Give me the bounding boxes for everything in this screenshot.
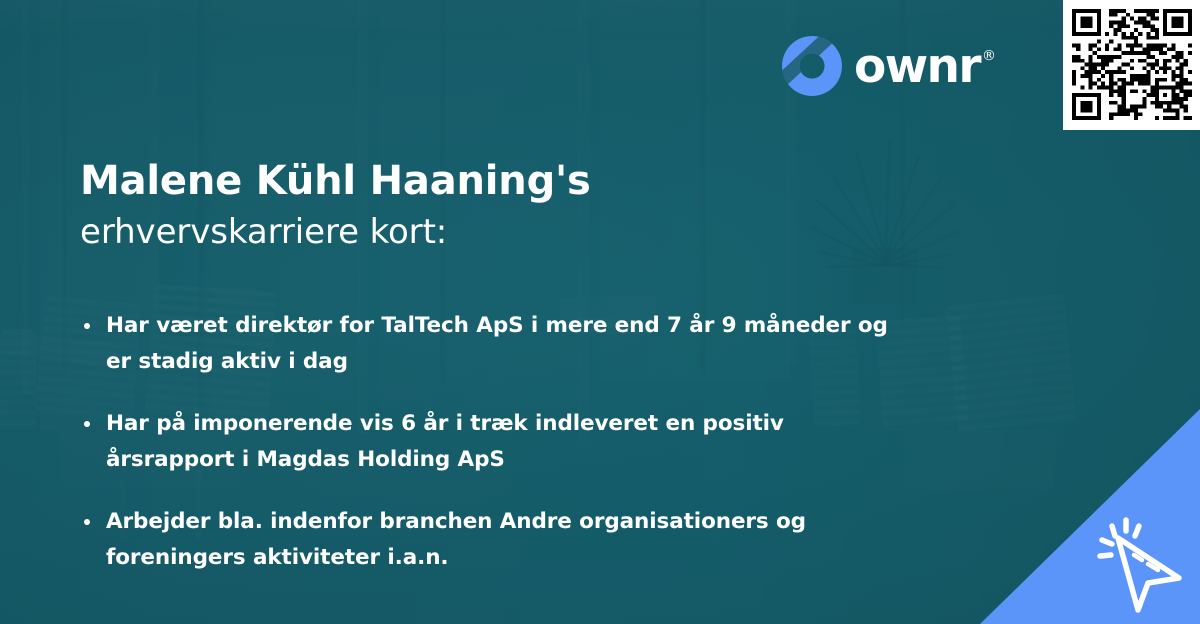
qr-code-panel[interactable]: [1063, 0, 1200, 130]
list-item-text: Har været direktør for TalTech ApS i mer…: [106, 313, 888, 374]
ownr-logo[interactable]: ownr ®: [782, 36, 996, 96]
ownr-wordmark-text: ownr: [854, 43, 980, 90]
click-cursor-icon: [1082, 512, 1194, 616]
list-item: Har været direktør for TalTech ApS i mer…: [80, 308, 900, 380]
list-item: Har på imponerende vis 6 år i træk indle…: [80, 406, 900, 478]
bullet-dot-icon: [84, 519, 90, 525]
list-item-text: Arbejder bla. indenfor branchen Andre or…: [106, 509, 806, 570]
qr-code[interactable]: [1072, 9, 1192, 120]
title-line-2: erhvervskarriere kort:: [80, 207, 840, 257]
title-line-1: Malene Kühl Haaning's: [80, 155, 840, 207]
list-item: Arbejder bla. indenfor branchen Andre or…: [80, 504, 900, 576]
career-highlights-list: Har været direktør for TalTech ApS i mer…: [80, 308, 900, 576]
career-card: ownr ® Malene Kühl Haaning's erhvervskar…: [0, 0, 1200, 624]
bullet-dot-icon: [84, 323, 90, 329]
list-item-text: Har på imponerende vis 6 år i træk indle…: [106, 411, 784, 472]
registered-trademark-icon: ®: [982, 49, 996, 63]
ownr-wordmark: ownr ®: [854, 43, 996, 90]
page-title: Malene Kühl Haaning's erhvervskarriere k…: [80, 155, 840, 257]
bullet-dot-icon: [84, 421, 90, 427]
ownr-circle-swoosh-icon: [782, 36, 842, 96]
